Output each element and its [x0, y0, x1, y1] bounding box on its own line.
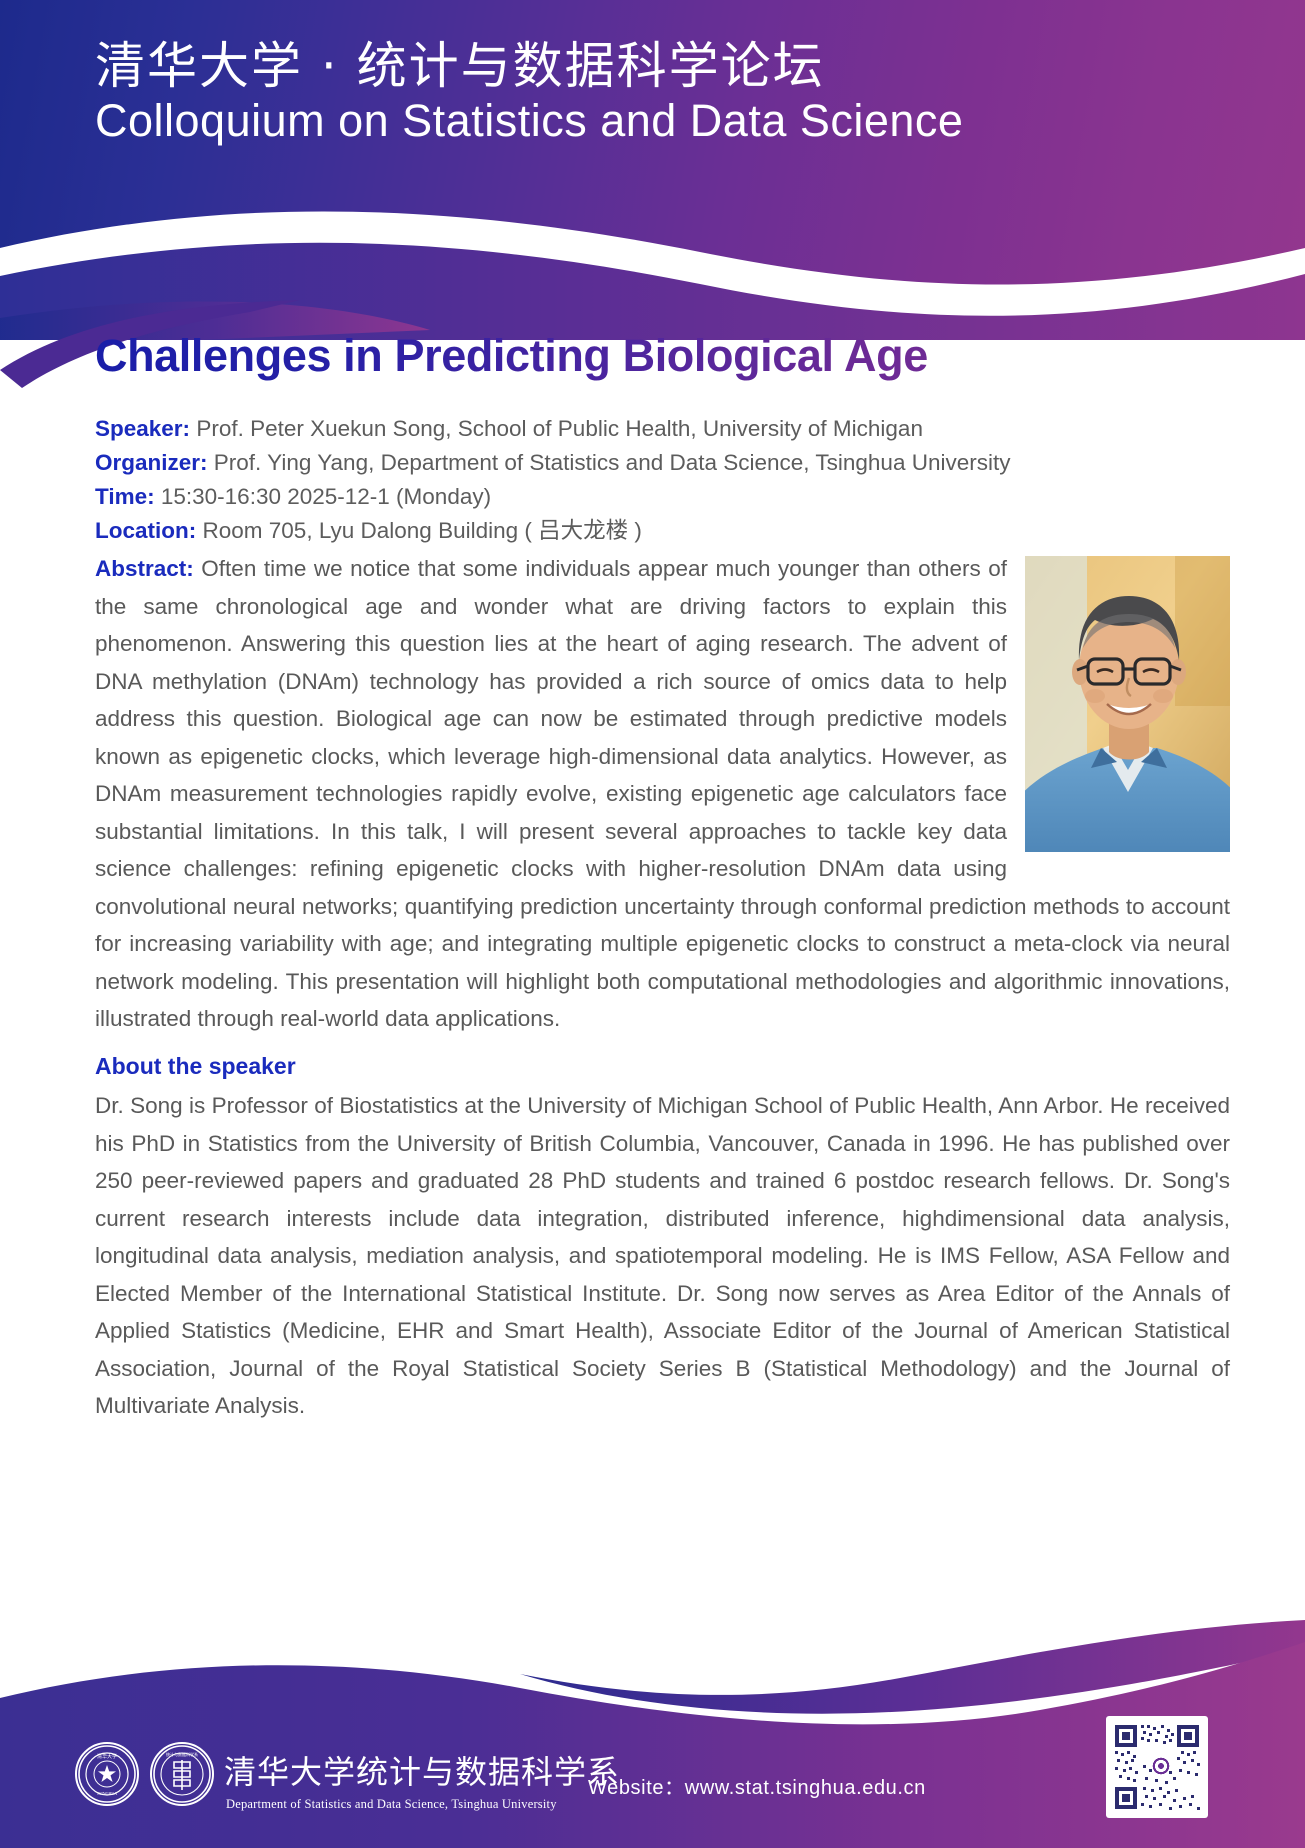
about-speaker-heading: About the speaker	[95, 1048, 1230, 1086]
poster: 清华大学 · 统计与数据科学论坛 Colloquium on Statistic…	[0, 0, 1305, 1848]
organizer-value: Prof. Ying Yang, Department of Statistic…	[214, 450, 1011, 475]
info-row-time: Time: 15:30-16:30 2025-12-1 (Monday)	[95, 480, 1215, 514]
svg-text:TSINGHUA: TSINGHUA	[97, 1791, 118, 1796]
poster-footer: 清华大学 TSINGHUA 统计与数据科学系 清华大学统计与数据科学系 Depa…	[0, 1558, 1305, 1848]
page-title: Challenges in Predicting Biological Age	[95, 330, 1215, 382]
abstract-label: Abstract:	[95, 556, 194, 581]
svg-text:清华大学: 清华大学	[97, 1753, 117, 1760]
location-value: Room 705, Lyu Dalong Building ( 吕大龙楼 )	[203, 518, 642, 543]
department-name-en: Department of Statistics and Data Scienc…	[226, 1797, 557, 1812]
organizer-label: Organizer:	[95, 450, 208, 475]
header-title-en: Colloquium on Statistics and Data Scienc…	[95, 96, 963, 146]
department-seal-icon: 统计与数据科学系	[150, 1742, 214, 1806]
event-info: Speaker: Prof. Peter Xuekun Song, School…	[95, 412, 1215, 548]
svg-text:统计与数据科学系: 统计与数据科学系	[166, 1751, 198, 1757]
footer-content: 清华大学 TSINGHUA 统计与数据科学系 清华大学统计与数据科学系 Depa…	[0, 1698, 1305, 1848]
speaker-value: Prof. Peter Xuekun Song, School of Publi…	[196, 416, 923, 441]
abstract-section: Abstract: Often time we notice that some…	[95, 550, 1230, 1425]
time-value: 15:30-16:30 2025-12-1 (Monday)	[161, 484, 491, 509]
about-speaker-text: Dr. Song is Professor of Biostatistics a…	[95, 1087, 1230, 1425]
info-row-speaker: Speaker: Prof. Peter Xuekun Song, School…	[95, 412, 1215, 446]
header-title-cn: 清华大学 · 统计与数据科学论坛	[95, 38, 963, 94]
info-row-location: Location: Room 705, Lyu Dalong Building …	[95, 514, 1215, 548]
website-line: Website：www.stat.tsinghua.edu.cn	[588, 1771, 926, 1800]
poster-header: 清华大学 · 统计与数据科学论坛 Colloquium on Statistic…	[0, 0, 1305, 340]
header-titles: 清华大学 · 统计与数据科学论坛 Colloquium on Statistic…	[95, 38, 963, 146]
website-label: Website：	[588, 1777, 685, 1799]
time-label: Time:	[95, 484, 155, 509]
website-url: www.stat.tsinghua.edu.cn	[685, 1777, 926, 1799]
portrait-image	[1025, 556, 1230, 852]
tsinghua-seal-icon: 清华大学 TSINGHUA	[75, 1742, 139, 1806]
info-row-organizer: Organizer: Prof. Ying Yang, Department o…	[95, 446, 1215, 480]
qr-code[interactable]	[1106, 1716, 1208, 1818]
location-label: Location:	[95, 518, 196, 543]
department-name-cn: 清华大学统计与数据科学系	[224, 1747, 620, 1793]
qr-code-image	[1111, 1721, 1203, 1813]
speaker-label: Speaker:	[95, 416, 190, 441]
speaker-portrait	[1025, 556, 1230, 852]
